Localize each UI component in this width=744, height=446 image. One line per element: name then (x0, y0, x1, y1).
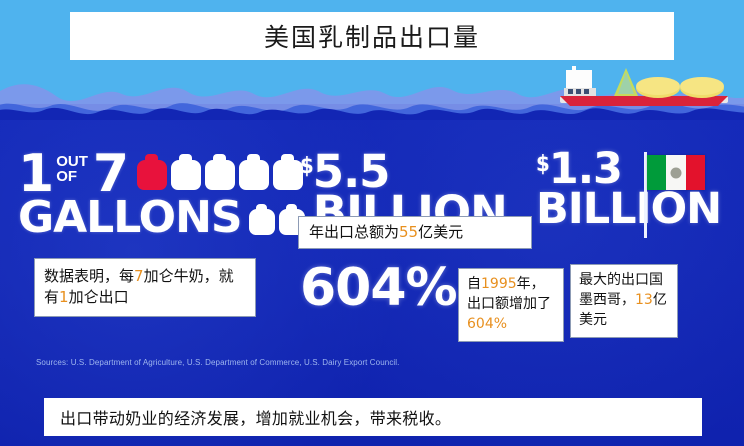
annot-growth-pre: 自 (467, 276, 481, 292)
annot-growth-hl2: 604% (467, 316, 507, 332)
annotation-gallons: 数据表明，每7加仑牛奶，就有1加仑出口 (34, 258, 256, 317)
cargo-ship-icon (552, 66, 738, 110)
flag-emblem-icon (670, 167, 681, 178)
annot-mexico-hl: 13 (635, 292, 653, 308)
stat-one: 1 (18, 152, 53, 198)
flag-red-band (686, 155, 705, 190)
stat-gallons-word: GALLONS (18, 198, 242, 238)
annot-gallons-hl2: 1 (59, 288, 69, 306)
of-label: OF (56, 169, 88, 184)
annot-billion-pre: 年出口总额为 (309, 223, 399, 241)
annotation-growth: 自1995年，出口额增加了604% (458, 268, 564, 342)
poster-title-box: 美国乳制品出口量 (70, 12, 674, 60)
milk-jug-icon-red (137, 154, 167, 190)
milk-jug-row-top (137, 154, 303, 190)
milk-jug-row-bottom (249, 204, 305, 235)
mexico-amount-row: $ 1.3 (536, 150, 744, 189)
annot-billion-post: 亿美元 (418, 223, 463, 241)
annot-gallons-post: 加仑出口 (69, 288, 129, 306)
annot-gallons-hl1: 7 (134, 267, 144, 285)
annot-billion-hl: 55 (399, 223, 418, 241)
out-label: OUT (56, 154, 88, 169)
annot-gallons-pre: 数据表明，每 (44, 267, 134, 285)
dollar-sign: $ (536, 154, 549, 176)
stat-mexico-word: BILLION (536, 190, 744, 230)
page-title: 美国乳制品出口量 (264, 18, 480, 54)
mexico-flag-icon (644, 152, 712, 238)
annotation-mexico: 最大的出口国墨西哥，13亿美元 (570, 264, 678, 338)
milk-jug-icon (273, 154, 303, 190)
annot-growth-hl1: 1995 (481, 276, 517, 292)
flag-green-band (647, 155, 666, 190)
annotation-total-exports: 年出口总额为55亿美元 (298, 216, 532, 249)
gallons-row: GALLONS (18, 198, 290, 238)
flag-banner (647, 155, 705, 190)
sources-line: Sources: U.S. Department of Agriculture,… (36, 358, 400, 367)
out-of-label: OUT OF (56, 154, 88, 185)
stat-gallons: 1 OUT OF 7 (18, 152, 290, 238)
stat-growth-percent: 604% (300, 262, 457, 314)
stat-seven: 7 (93, 152, 128, 198)
milk-jug-icon (249, 204, 275, 235)
stat-mexico-amount: 1.3 (549, 150, 622, 189)
stat-mexico-exports: $ 1.3 BILLION (536, 150, 744, 229)
bottom-caption-box: 出口带动奶业的经济发展，增加就业机会，带来税收。 (44, 398, 702, 436)
milk-jug-icon (171, 154, 201, 190)
bottom-caption-text: 出口带动奶业的经济发展，增加就业机会，带来税收。 (60, 405, 451, 429)
flag-white-band (666, 155, 685, 190)
milk-jug-icon (205, 154, 235, 190)
dollar-sign: $ (300, 156, 313, 178)
milk-jug-icon (239, 154, 269, 190)
infographic-poster: 美国乳制品出口量 1 OUT OF 7 (0, 0, 744, 446)
